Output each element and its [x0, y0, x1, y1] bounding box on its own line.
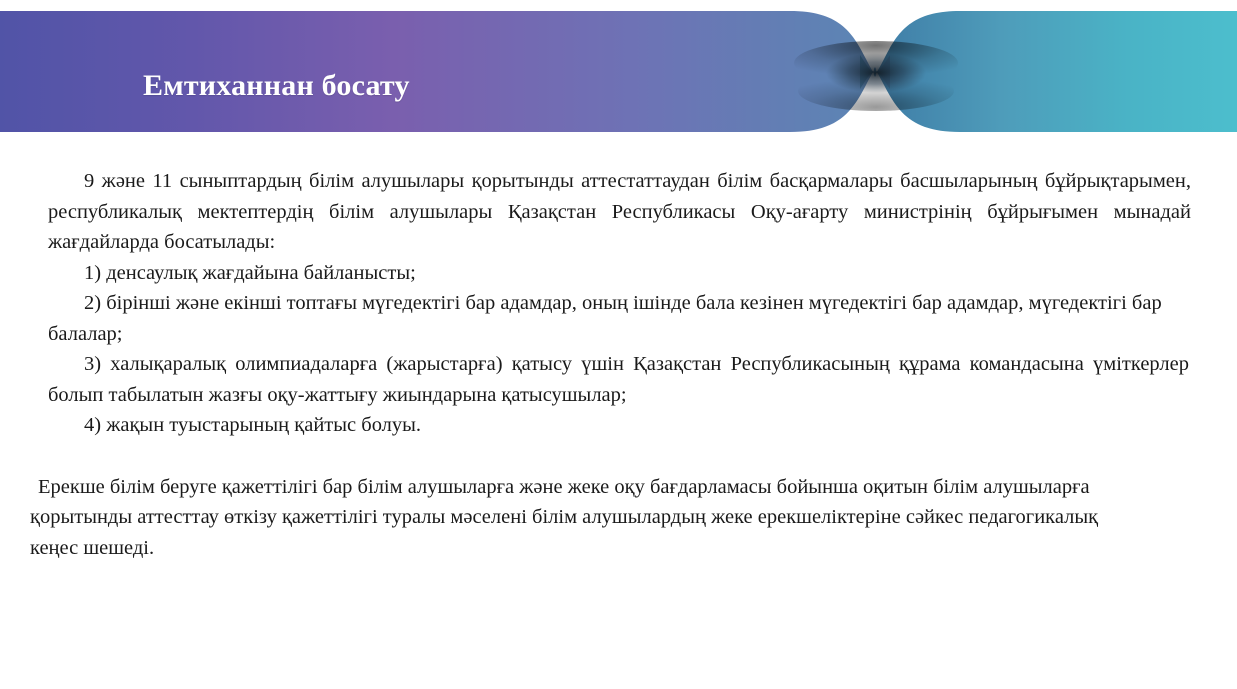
banner-left-lobe — [0, 11, 876, 132]
reasons-list: 1) денсаулық жағдайына байланысты; 2) бі… — [0, 258, 1237, 441]
list-item: 2) бірінші және екінші топтағы мүгедекті… — [0, 288, 1237, 349]
intro-paragraph: 9 және 11 сыныптардың білім алушылары қо… — [0, 166, 1237, 258]
list-item: 1) денсаулық жағдайына байланысты; — [0, 258, 1237, 289]
page-title: Емтиханнан босату — [143, 71, 410, 101]
slide-content: 9 және 11 сыныптардың білім алушылары қо… — [0, 166, 1237, 563]
closing-block: Ерекше білім беруге қажеттілігі бар білі… — [0, 472, 1237, 564]
list-item: 4) жақын туыстарының қайтыс болуы. — [0, 410, 1237, 441]
header-banner: Емтиханнан босату — [0, 11, 1237, 132]
closing-paragraph: Ерекше білім беруге қажеттілігі бар білі… — [30, 472, 1150, 564]
banner-waist-shadow-bottom — [798, 71, 954, 111]
list-item: 3) халықаралық олимпиадаларға (жарыстарғ… — [0, 349, 1237, 410]
